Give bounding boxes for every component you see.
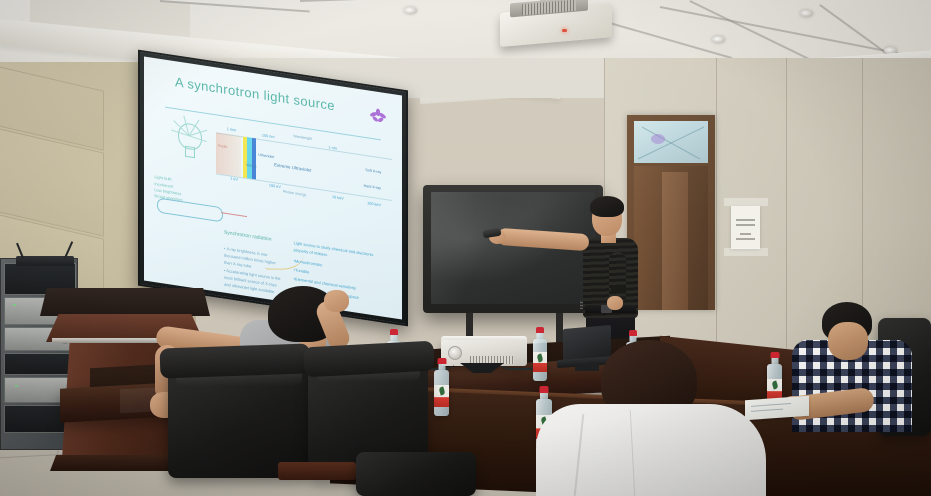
bottle-leaf-icon [438, 386, 445, 395]
notice-text-line [736, 224, 755, 226]
laptop-stand [575, 364, 599, 371]
spectrum-tick: 100 keV [367, 201, 381, 207]
photo-scene: A synchrotron light source [0, 0, 931, 496]
wall-seam [862, 58, 863, 348]
notice-text-line [736, 219, 755, 221]
ceiling-projector [500, 0, 612, 44]
storage-ring-beam [221, 213, 247, 218]
rack-led [15, 385, 18, 387]
wifi-router [16, 256, 74, 266]
bottle-leaf-icon [771, 380, 778, 389]
projection-screen: A synchrotron light source [138, 50, 408, 327]
spectrum-tick: 1 mm [227, 127, 237, 132]
rack-unit [4, 353, 76, 375]
spectrum-band-label: Soft X-ray [365, 167, 381, 173]
door-transom-glass [634, 121, 708, 163]
paper-text-line [751, 403, 791, 407]
spectrum-tick: 100 nm [262, 133, 275, 139]
spectrum-tick: 10 keV [332, 195, 344, 201]
spectrum-axis-label-top: Wavelength [293, 134, 312, 141]
chair-wood-trim [278, 462, 356, 480]
chair-armrest [160, 343, 311, 378]
water-bottle[interactable] [434, 358, 449, 416]
bottle-body [533, 339, 547, 381]
bullet-text: Monochromatic [295, 259, 322, 268]
presenter-watch [611, 286, 626, 292]
podium-top [40, 288, 210, 316]
transom-reflection-icon [634, 121, 708, 163]
slide-col2-heading: Synchrotron radiation [224, 230, 272, 243]
wall-seam [786, 58, 787, 358]
spectrum-band-infrared [216, 133, 241, 177]
bottle-cap [540, 386, 549, 393]
ceiling-downlight [712, 36, 725, 43]
spectrum-band-visible [252, 138, 256, 179]
slide-surface: A synchrotron light source [144, 56, 402, 319]
spectrum-band-label: Extreme Ultraviolet [274, 162, 311, 173]
spectrum-band-label: Hard X-ray [364, 183, 381, 190]
water-bottle[interactable] [533, 327, 547, 381]
bottle-leaf-icon [536, 353, 543, 362]
bullet-text: Tunable [295, 267, 309, 274]
bottle-body [434, 370, 449, 416]
leather-chair[interactable] [356, 452, 476, 496]
notice-tape [724, 248, 768, 256]
spectrum-band-label: Ultraviolet [258, 153, 274, 159]
bottle-label [533, 352, 547, 372]
slide-title: A synchrotron light source [175, 75, 335, 114]
projector-power-led [562, 29, 567, 32]
attendee-grey-right-hand [324, 290, 349, 312]
flower-logo-icon [367, 106, 389, 125]
lightbulb-diagram [172, 121, 206, 168]
ceiling-downlight [800, 10, 813, 17]
rack-led [13, 304, 16, 306]
notice-tape [724, 198, 768, 206]
shirt-fold [574, 414, 584, 496]
bulb-base [185, 146, 195, 159]
paper-text-line [751, 409, 783, 412]
spectrum-axis-label-bottom: Photon energy [283, 190, 306, 198]
notice-text-line [740, 233, 751, 235]
door-open-gap [662, 172, 688, 310]
wall-seam [716, 58, 717, 358]
shirt-fold [630, 410, 636, 496]
attendee-white-shirt [536, 404, 766, 496]
bottle-label [434, 385, 449, 407]
ceiling-downlight [404, 7, 417, 14]
spectrum-tick: 100 eV [269, 184, 281, 190]
wall-notice [731, 206, 760, 249]
presenter-hair [590, 196, 624, 217]
notice-text-line [736, 238, 755, 240]
attendee-checkered-face [828, 322, 868, 360]
presenter-right-hand [607, 296, 623, 310]
spectrum-tick: 1 eV [230, 177, 238, 182]
